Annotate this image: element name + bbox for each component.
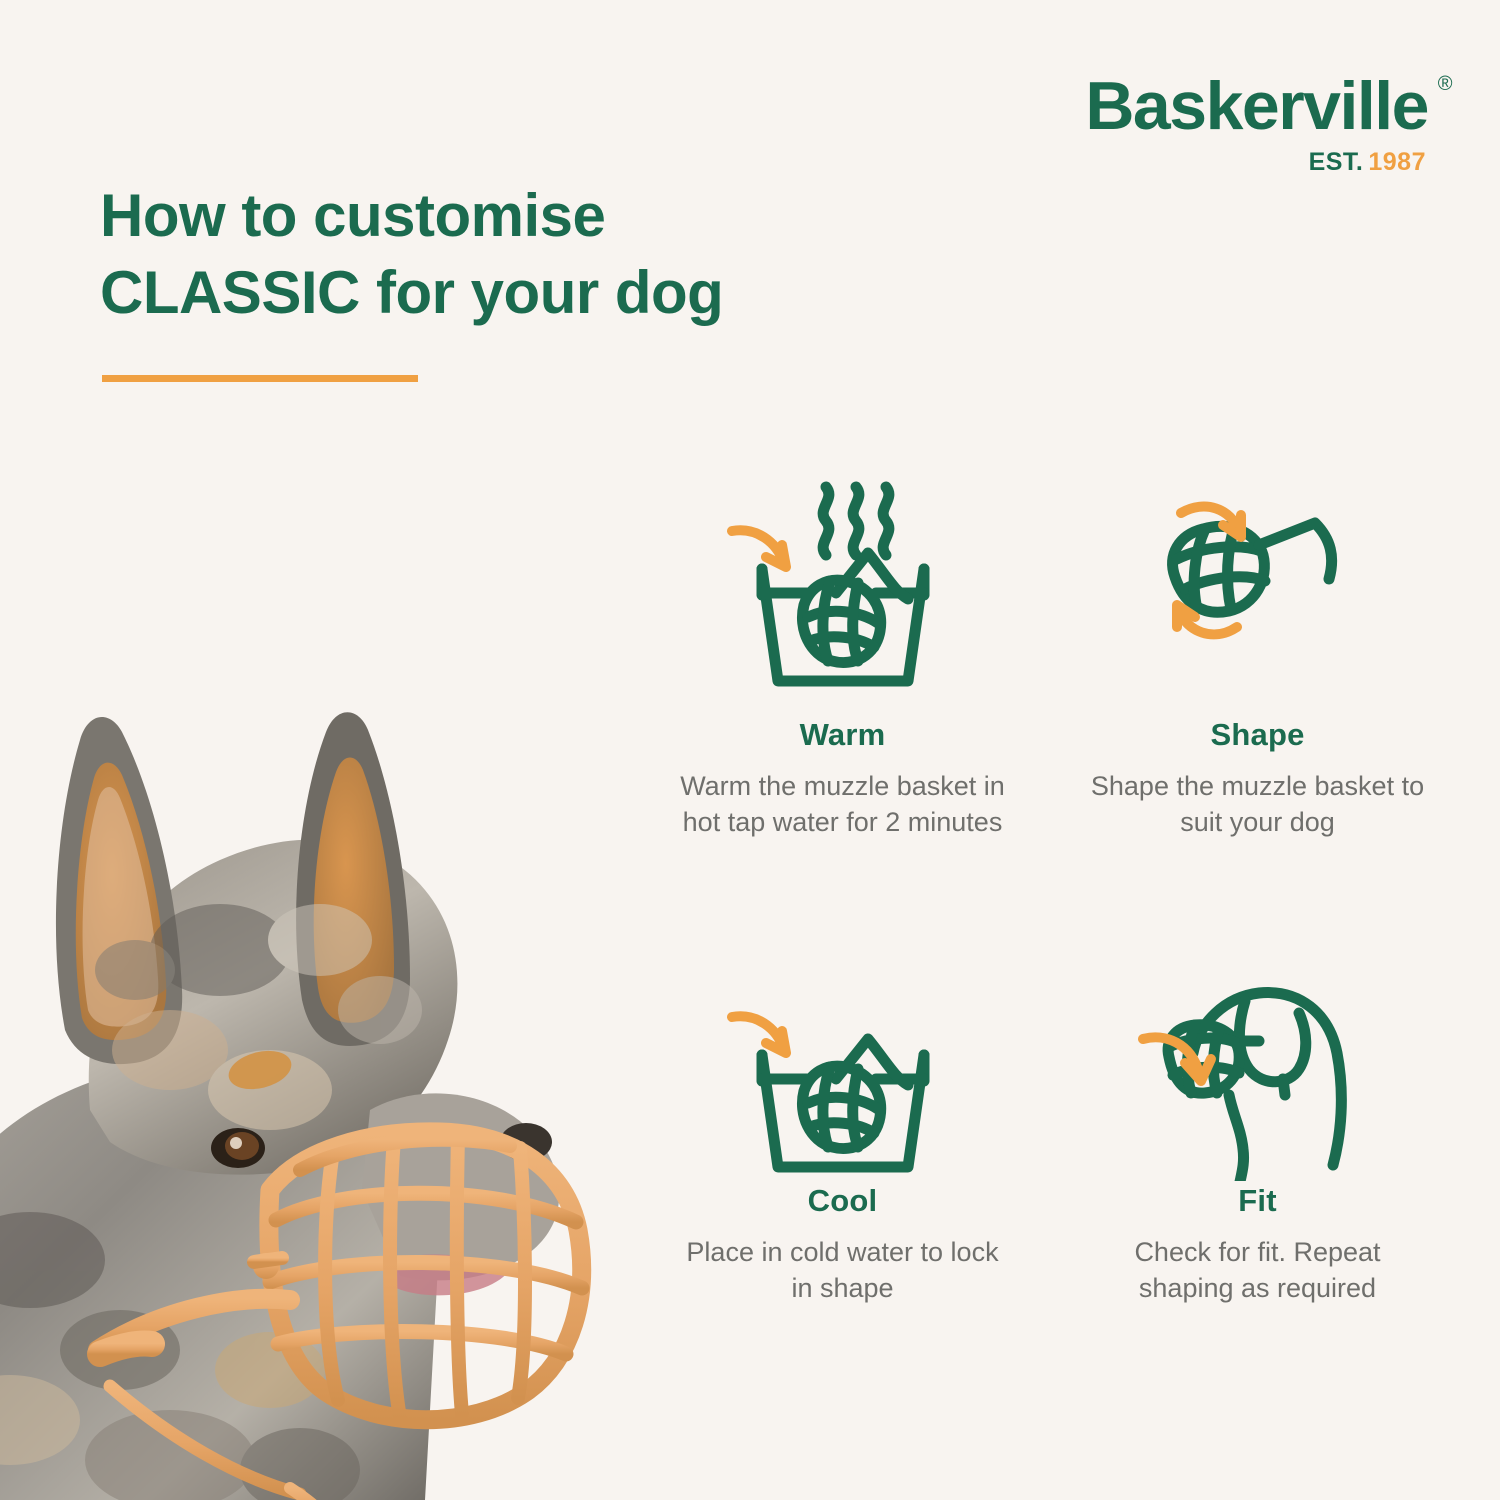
cool-basin-icon — [718, 931, 968, 1181]
title-underline-divider — [102, 375, 418, 382]
step-fit-icon-wrap — [1133, 931, 1383, 1181]
registered-trademark-icon: ® — [1438, 74, 1451, 94]
warm-basin-icon — [718, 465, 968, 715]
step-cool-description: Place in cold water to lock in shape — [673, 1235, 1013, 1307]
step-warm-description: Warm the muzzle basket in hot tap water … — [673, 769, 1013, 841]
dog-eye — [211, 1128, 265, 1168]
step-shape-icon-wrap — [1133, 465, 1383, 715]
shape-muzzle-icon — [1133, 465, 1383, 715]
step-shape-title: Shape — [1210, 717, 1304, 753]
brand-logo: Baskerville® EST.1987 — [1085, 72, 1428, 175]
logo-est-year: 1987 — [1368, 148, 1426, 176]
logo-est-label: EST. — [1309, 148, 1364, 176]
down-arrow-icon — [732, 1016, 786, 1053]
step-fit-title: Fit — [1238, 1183, 1276, 1219]
logo-wordmark: Baskerville® — [1085, 72, 1428, 140]
step-cool: Cool Place in cold water to lock in shap… — [640, 931, 1045, 1307]
dog-with-muzzle-photo — [0, 470, 630, 1500]
fit-dog-head-icon — [1133, 931, 1383, 1181]
page-title-line-2: CLASSIC for your dog — [100, 255, 930, 332]
dog-photo-illustration — [0, 470, 630, 1500]
page-title: How to customise CLASSIC for your dog — [100, 178, 930, 332]
step-shape: Shape Shape the muzzle basket to suit yo… — [1055, 465, 1460, 841]
logo-wordmark-text: Baskerville — [1085, 68, 1428, 144]
page-title-line-1: How to customise — [100, 182, 605, 249]
down-arrow-icon — [732, 530, 786, 567]
step-cool-title: Cool — [808, 1183, 878, 1219]
step-shape-description: Shape the muzzle basket to suit your dog — [1088, 769, 1428, 841]
steps-grid: Warm Warm the muzzle basket in hot tap w… — [640, 465, 1460, 1307]
logo-established: EST.1987 — [1085, 150, 1426, 175]
step-fit-description: Check for fit. Repeat shaping as require… — [1088, 1235, 1428, 1307]
step-warm: Warm Warm the muzzle basket in hot tap w… — [640, 465, 1045, 841]
step-cool-icon-wrap — [718, 931, 968, 1181]
step-fit: Fit Check for fit. Repeat shaping as req… — [1055, 931, 1460, 1307]
step-warm-icon-wrap — [718, 465, 968, 715]
step-warm-title: Warm — [800, 717, 886, 753]
